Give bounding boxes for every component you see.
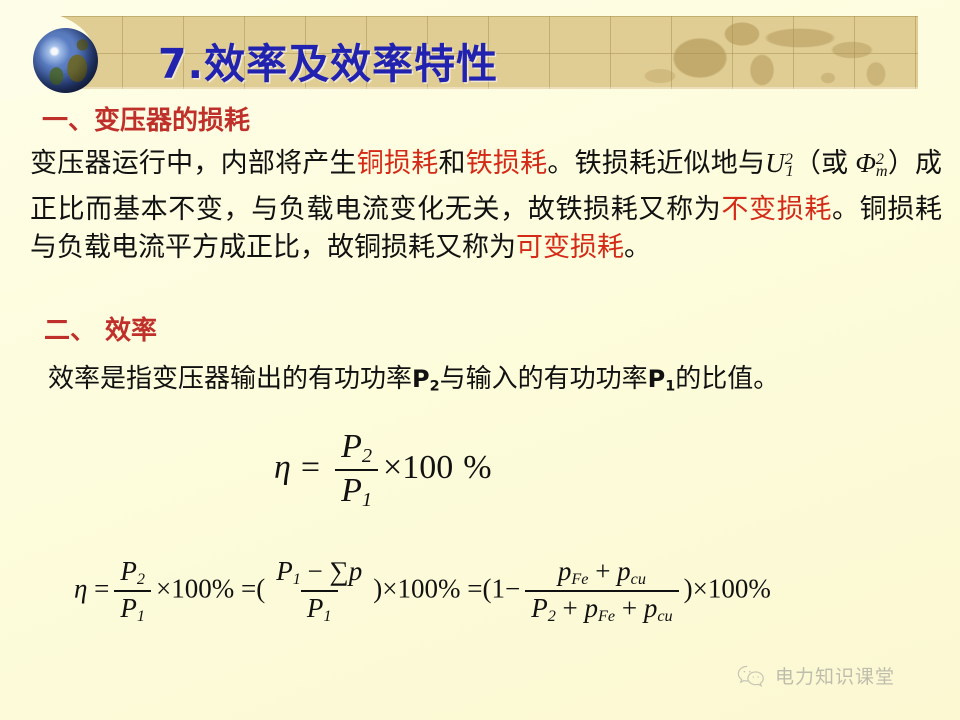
page-title: 7.效率及效率特性 (158, 30, 498, 90)
symbol-phi-m-squared: Φ2m (855, 148, 887, 178)
text-run: 变压器运行中，内部将产生 (30, 148, 357, 178)
text-run-highlight-iron-loss: 铁损耗 (466, 148, 548, 178)
fraction-denominator: P1 (301, 590, 338, 626)
close-paren: ) (373, 573, 382, 603)
times-100-percent: ×100% (156, 573, 234, 603)
sigma-icon: ∑ (330, 556, 349, 586)
text-run-highlight-variable-loss: 可变损耗 (516, 232, 624, 262)
watermark: 电力知识课堂 (736, 662, 895, 689)
fraction-numerator: pFe + pcu (552, 556, 652, 590)
times-100-percent: ×100% (693, 573, 771, 603)
fraction-numerator: P2 (114, 556, 151, 590)
wechat-icon (736, 664, 766, 688)
slide-canvas: 7.效率及效率特性 一、变压器的损耗 变压器运行中，内部将产生铜损耗和铁损耗。铁… (0, 0, 960, 720)
text-run: （或 (794, 148, 856, 178)
percent-sign: % (463, 449, 491, 486)
text-run-highlight-copper-loss: 铜损耗 (357, 148, 439, 178)
formula-efficiency-basic: η= P2 P1 ×100% (274, 428, 492, 512)
fraction-p1-minus-sum-p-over-p1: P1 − ∑p P1 (270, 556, 368, 626)
fraction-numerator: P1 − ∑p (270, 556, 368, 590)
text-run: 。 (624, 232, 651, 262)
text-run: 和 (438, 148, 465, 178)
text-run: 的比值。 (675, 364, 779, 393)
fraction-p2-over-p1: P2 P1 (114, 556, 151, 626)
slide-header-banner: 7.效率及效率特性 (0, 16, 918, 89)
symbol-p1: P1 (648, 365, 676, 393)
eta-symbol: η (274, 449, 291, 486)
text-run: 与输入的有功功率 (440, 364, 648, 393)
symbol-p2: P2 (412, 365, 440, 393)
value-one: 1 (491, 573, 505, 603)
text-run: 。铁损耗近似地与 (547, 148, 765, 178)
fraction-numerator: P2 (335, 428, 378, 469)
equals-sign: = (241, 573, 256, 603)
symbol-u1-squared: U21 (765, 148, 793, 178)
equals-sign: = (94, 573, 109, 603)
fraction-denominator: P1 (114, 590, 151, 626)
fraction-losses-over-total: pFe + pcu P2 + pFe + pcu (525, 556, 678, 626)
minus-sign: − (505, 573, 520, 603)
eta-symbol: η (74, 573, 87, 603)
paragraph-losses: 变压器运行中，内部将产生铜损耗和铁损耗。铁损耗近似地与U21（或 Φ2m）成正比… (30, 140, 942, 266)
value-100: 100 (402, 449, 453, 486)
fraction-denominator: P1 (335, 469, 378, 512)
equals-sign: = (467, 573, 482, 603)
times-100-percent: ×100% (382, 573, 460, 603)
paragraph-efficiency-definition: 效率是指变压器输出的有功功率P2与输入的有功功率P1的比值。 (48, 358, 779, 395)
section-heading-efficiency: 二、 效率 (44, 310, 157, 347)
globe-icon (33, 28, 98, 93)
equals-sign: = (301, 449, 320, 486)
section-heading-losses: 一、变压器的损耗 (42, 100, 250, 137)
text-run: 效率是指变压器输出的有功功率 (48, 364, 412, 393)
fraction-p2-over-p1: P2 P1 (335, 428, 378, 512)
text-run-highlight-constant-loss: 不变损耗 (721, 194, 832, 224)
watermark-label: 电力知识课堂 (775, 662, 895, 689)
multiply-sign: × (383, 449, 402, 486)
fraction-denominator: P2 + pFe + pcu (525, 590, 678, 626)
open-paren: ( (256, 573, 265, 603)
close-paren: ) (684, 573, 693, 603)
formula-efficiency-expanded: η = P2 P1 ×100% =( P1 − ∑p P1 )×100% =(1… (74, 556, 771, 626)
